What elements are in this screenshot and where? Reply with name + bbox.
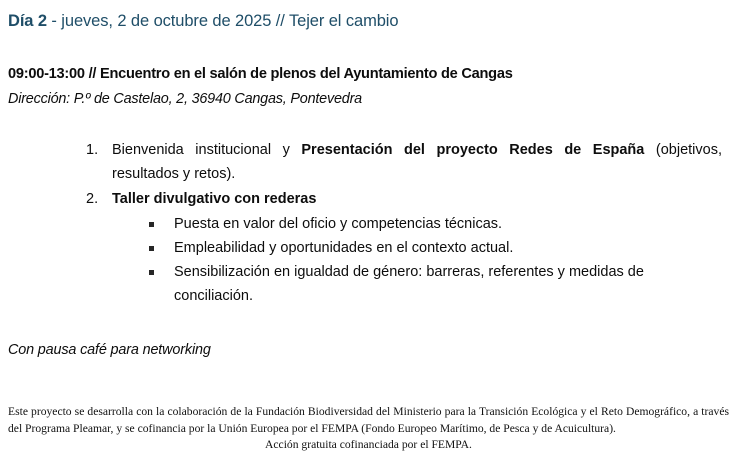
agenda-list: 1. Bienvenida institucional y Presentaci… xyxy=(86,138,722,309)
agenda-subitem-1-text: Puesta en valor del oficio y competencia… xyxy=(174,212,715,236)
closing-note: Con pausa café para networking xyxy=(8,340,211,360)
agenda-subitem-1: Puesta en valor del oficio y competencia… xyxy=(148,212,715,236)
agenda-subitem-2-text: Empleabilidad y oportunidades en el cont… xyxy=(174,236,715,260)
agenda-subitem-2: Empleabilidad y oportunidades en el cont… xyxy=(148,236,715,260)
day-heading-rest: - jueves, 2 de octubre de 2025 // Tejer … xyxy=(47,12,399,30)
day-heading: Día 2 - jueves, 2 de octubre de 2025 // … xyxy=(8,10,398,32)
agenda-item-1-marker: 1. xyxy=(86,138,106,162)
footer: Este proyecto se desarrolla con la colab… xyxy=(8,404,729,454)
square-bullet-icon xyxy=(149,270,154,275)
agenda-item-2-marker: 2. xyxy=(86,187,106,211)
session-title: 09:00-13:00 // Encuentro en el salón de … xyxy=(8,64,513,84)
agenda-subitem-3-text: Sensibilización en igualdad de género: b… xyxy=(174,260,715,308)
agenda-item-1-text-bold: Presentación del proyecto Redes de Españ… xyxy=(301,142,644,158)
agenda-item-2-text-bold: Taller divulgativo con rederas xyxy=(112,191,316,207)
footer-funding-paragraph: Este proyecto se desarrolla con la colab… xyxy=(8,404,729,437)
session-address: Dirección: P.º de Castelao, 2, 36940 Can… xyxy=(8,89,362,109)
agenda-item-2: 2. Taller divulgativo con rederas Puesta… xyxy=(86,187,722,308)
agenda-item-1: 1. Bienvenida institucional y Presentaci… xyxy=(86,138,722,186)
agenda-item-1-text-lead: Bienvenida institucional y xyxy=(112,142,301,158)
square-bullet-icon xyxy=(149,246,154,251)
agenda-subitem-3: Sensibilización en igualdad de género: b… xyxy=(148,260,715,308)
document-page: Día 2 - jueves, 2 de octubre de 2025 // … xyxy=(0,0,737,463)
day-heading-label: Día 2 xyxy=(8,12,47,30)
footer-centered-line: Acción gratuita cofinanciada por el FEMP… xyxy=(8,437,729,454)
agenda-sublist: Puesta en valor del oficio y competencia… xyxy=(148,212,715,308)
square-bullet-icon xyxy=(149,222,154,227)
agenda-item-2-text: Taller divulgativo con rederas xyxy=(112,187,722,211)
agenda-item-1-text: Bienvenida institucional y Presentación … xyxy=(112,138,722,186)
